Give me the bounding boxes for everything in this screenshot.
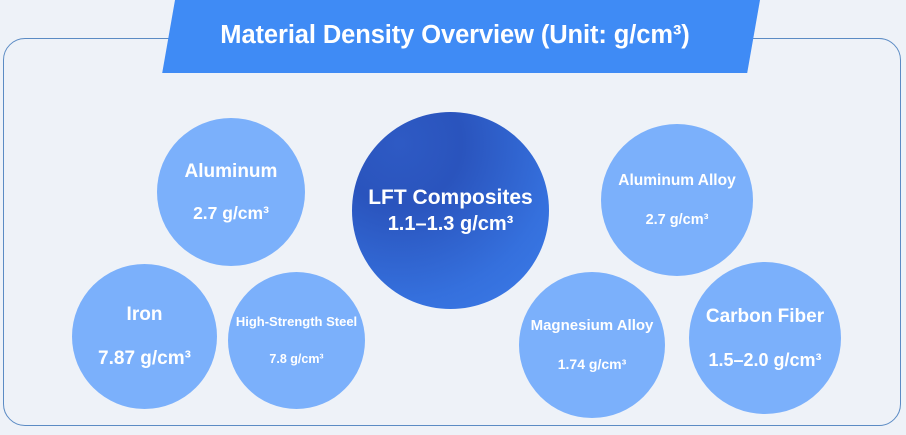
- bubble-iron: Iron 7.87 g/cm³: [72, 264, 217, 409]
- bubble-iron-label: Iron: [127, 304, 163, 325]
- bubble-aluminum-value: 2.7 g/cm³: [193, 204, 269, 224]
- bubble-carbon-fiber-label: Carbon Fiber: [706, 306, 824, 327]
- bubble-carbon-fiber-value: 1.5–2.0 g/cm³: [708, 350, 821, 370]
- bubble-iron-value: 7.87 g/cm³: [98, 348, 191, 369]
- bubble-high-strength-steel-value: 7.8 g/cm³: [269, 352, 323, 366]
- page-title: Material Density Overview (Unit: g/cm³): [220, 21, 689, 53]
- bubble-lft-composites-value: 1.1–1.3 g/cm³: [388, 213, 514, 235]
- bubble-magnesium-alloy-label: Magnesium Alloy: [531, 318, 654, 335]
- bubble-high-strength-steel-label: High-Strength Steel: [236, 315, 357, 330]
- bubble-aluminum-alloy-label: Aluminum Alloy: [618, 172, 735, 189]
- bubble-lft-composites: LFT Composites 1.1–1.3 g/cm³: [352, 112, 549, 309]
- title-banner: Material Density Overview (Unit: g/cm³): [150, 0, 760, 73]
- bubble-carbon-fiber: Carbon Fiber 1.5–2.0 g/cm³: [689, 262, 841, 414]
- bubble-lft-composites-label: LFT Composites: [368, 186, 533, 210]
- bubble-high-strength-steel: High-Strength Steel 7.8 g/cm³: [228, 272, 365, 409]
- bubble-magnesium-alloy: Magnesium Alloy 1.74 g/cm³: [519, 272, 665, 418]
- bubble-aluminum-alloy: Aluminum Alloy 2.7 g/cm³: [601, 124, 753, 276]
- bubble-magnesium-alloy-value: 1.74 g/cm³: [558, 357, 626, 373]
- bubble-aluminum-label: Aluminum: [185, 161, 278, 182]
- bubble-aluminum: Aluminum 2.7 g/cm³: [157, 118, 305, 266]
- infographic-canvas: Material Density Overview (Unit: g/cm³) …: [0, 0, 906, 435]
- bubble-aluminum-alloy-value: 2.7 g/cm³: [646, 212, 709, 228]
